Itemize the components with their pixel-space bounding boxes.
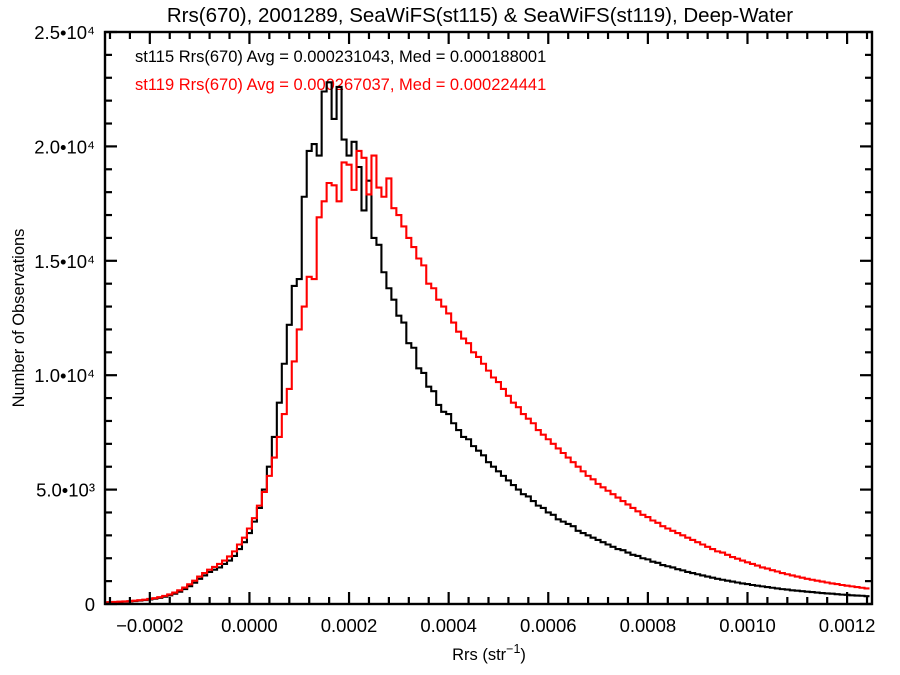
chart-title: Rrs(670), 2001289, SeaWiFS(st115) & SeaW… [167,4,793,27]
x-tick-label: −0.0002 [116,615,183,636]
x-tick-label: 0.0006 [520,615,577,636]
legend-entry-st115: st115 Rrs(670) Avg = 0.000231043, Med = … [135,48,546,66]
chart-figure: Rrs(670), 2001289, SeaWiFS(st115) & SeaW… [0,0,900,675]
x-tick-label: 0.0010 [719,615,776,636]
y-tick-label: 1.5•10⁴ [34,251,95,272]
x-tick-label: 0.0002 [321,615,378,636]
y-tick-label: 1.0•10⁴ [34,365,95,386]
rrs-histogram-chart: Rrs(670), 2001289, SeaWiFS(st115) & SeaW… [0,0,900,675]
y-tick-label: 0 [85,594,95,615]
x-tick-label: 0.0004 [420,615,477,636]
chart-background [0,0,900,675]
x-tick-label: 0.0000 [221,615,278,636]
y-axis-title: Number of Observations [10,229,28,408]
y-tick-label: 2.5•10⁴ [34,22,95,43]
x-tick-label: 0.0008 [620,615,677,636]
x-tick-label: 0.0012 [819,615,876,636]
y-tick-label: 2.0•10⁴ [34,136,95,157]
y-tick-label: 5.0•10³ [36,480,95,501]
